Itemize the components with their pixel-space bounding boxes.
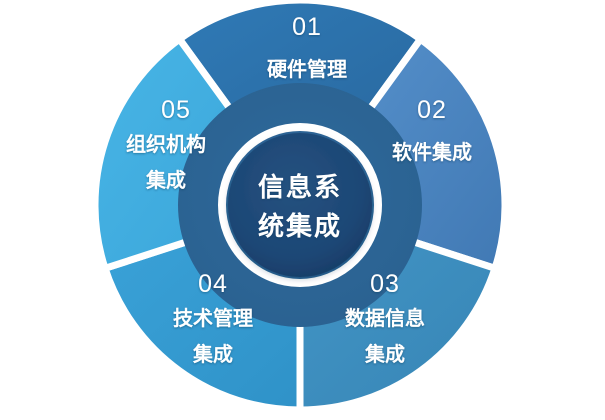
- segment-02-label-line-1: 软件集成: [392, 140, 472, 164]
- diagram-canvas: 信息系 统集成 01 硬件管理 02 软件集成 03 数据信息 集成 04 技术…: [0, 0, 605, 420]
- segment-04-label-line-2: 集成: [192, 342, 233, 366]
- segment-05-number: 05: [161, 96, 191, 124]
- segment-04-number: 04: [198, 270, 228, 298]
- segment-02-number: 02: [417, 96, 447, 124]
- center-hub-label-line-2: 统集成: [258, 211, 342, 242]
- segment-03-label-line-1: 数据信息: [345, 306, 425, 330]
- segment-04-label-line-1: 技术管理: [173, 306, 253, 330]
- segment-05-label-line-2: 集成: [145, 168, 186, 192]
- segment-03-label-line-2: 集成: [364, 342, 405, 366]
- center-hub-label-line-1: 信息系: [258, 172, 342, 203]
- center-hub[interactable]: [228, 133, 372, 277]
- information-system-integration-donut-diagram: 信息系 统集成 01 硬件管理 02 软件集成 03 数据信息 集成 04 技术…: [0, 0, 605, 420]
- segment-01-number: 01: [292, 13, 322, 41]
- segment-01-label-line-1: 硬件管理: [267, 57, 347, 81]
- segment-05-label-line-1: 组织机构: [126, 132, 206, 156]
- segment-03-number: 03: [370, 270, 400, 298]
